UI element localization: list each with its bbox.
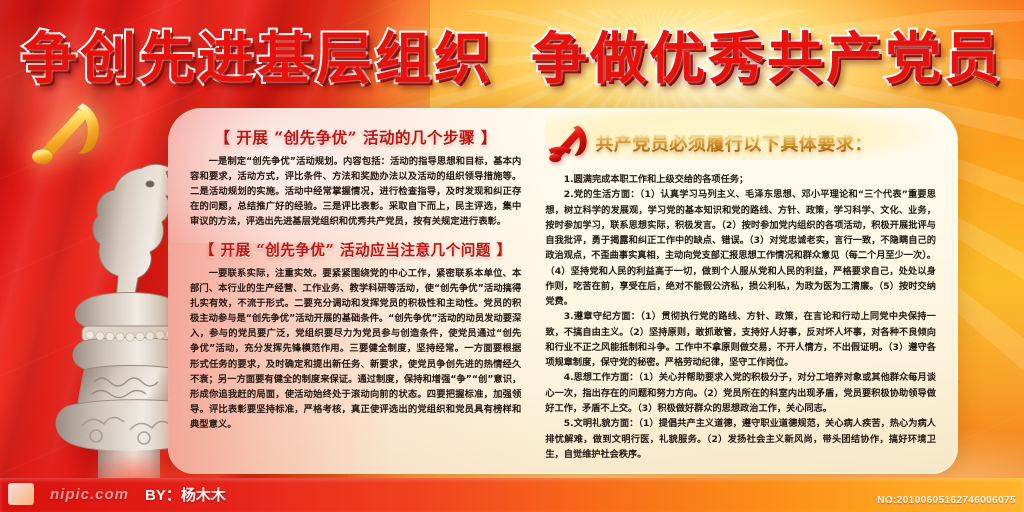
left-heading-1: 【 开展 “创先争优” 活动的几个步骤 】 (190, 126, 521, 148)
right-item: 2.党的生活方面：（1）认真学习马列主义、毛泽东思想、邓小平理论和“三个代表”重… (545, 187, 936, 309)
left-column: 【 开展 “创先争优” 活动的几个步骤 】 一是制定“创先争优”活动规划。内容包… (168, 108, 535, 474)
right-item: 5.文明礼貌方面：（1）提倡共产主义道德，遵守职业道德规范，关心病人疾苦，热心为… (545, 416, 936, 462)
hammer-sickle-gold-icon (22, 96, 114, 170)
left-heading-2: 【 开展 “创先争优” 活动应当注意几个问题 】 (190, 239, 521, 260)
watermark-author: BY：杨木木 (145, 484, 226, 505)
site-watermark: nipic.com BY：杨木木 (8, 480, 226, 508)
headline-right-text: 争做优秀共产党员 (531, 32, 1003, 88)
two-column-layout: 【 开展 “创先争优” 活动的几个步骤 】 一是制定“创先争优”活动规划。内容包… (168, 108, 958, 474)
site-logo-icon (8, 483, 34, 505)
watermark-domain: nipic.com (50, 486, 129, 503)
headline-left-text: 争创先进基层组织 (21, 32, 493, 88)
left-paragraph-2: 一要联系实际，注重实效。要紧紧围绕党的中心工作，紧密联系本单位、本部门、本行业的… (190, 266, 521, 432)
poster-headline: 争创先进基层组织 争做优秀共产党员 (0, 22, 1024, 98)
serial-number: NO:20100605162746006075 (877, 495, 1016, 506)
right-item: 4.思想工作方面：（1）关心并帮助要求入党的积极分子，对分工培养对象或其他群众每… (545, 370, 936, 416)
right-item: 1.圆满完成本职工作和上级交给的各项任务； (545, 172, 936, 187)
poster-canvas: 争创先进基层组织 争做优秀共产党员 【 开展 “创先争优” 活动的几个步骤 】 … (0, 0, 1024, 512)
right-item: 3.遵章守纪方面：（1）贯彻执行党的路线、方针、政策，在言论和行动上同党中央保持… (545, 309, 936, 370)
hammer-sickle-icon (545, 122, 591, 164)
right-column: 共产党员必须履行以下具体要求： 1.圆满完成本职工作和上级交给的各项任务； 2.… (535, 108, 958, 474)
right-heading-text: 共产党员必须履行以下具体要求： (595, 130, 873, 156)
right-heading-row: 共产党员必须履行以下具体要求： (545, 122, 936, 164)
content-panel: 【 开展 “创先争优” 活动的几个步骤 】 一是制定“创先争优”活动规划。内容包… (168, 108, 958, 474)
left-paragraph-1: 一是制定“创先争优”活动规划。内容包括：活动的指导思想和目标，基本内容和要求，活… (190, 154, 521, 229)
